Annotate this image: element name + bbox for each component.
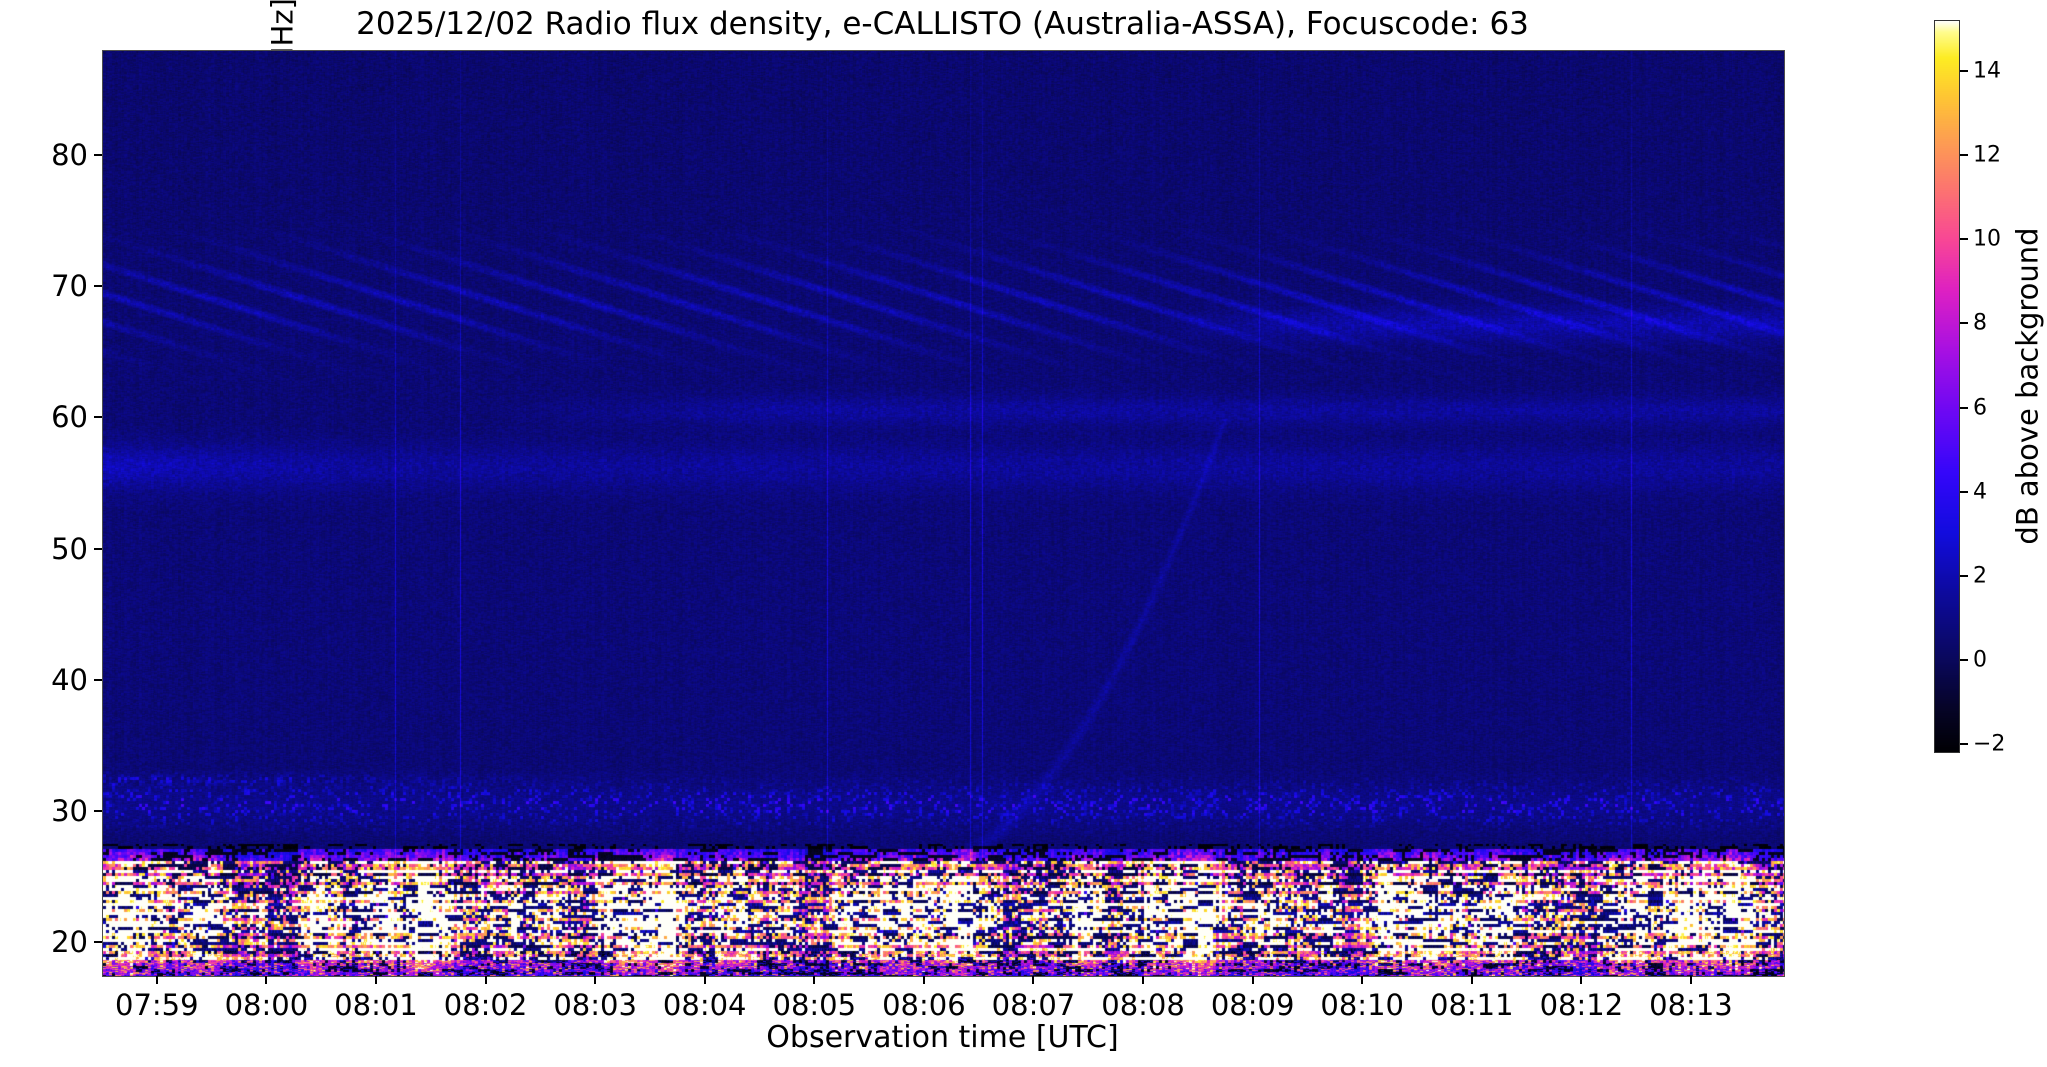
y-tick-mark <box>94 548 102 550</box>
colorbar-tick-label: 10 <box>1973 227 2001 252</box>
x-tick-mark <box>156 976 158 984</box>
x-tick-mark <box>923 976 925 984</box>
x-tick-mark <box>704 976 706 984</box>
y-tick-label: 20 <box>51 925 88 959</box>
y-tick-mark <box>94 154 102 156</box>
colorbar-tick-label: 2 <box>1973 563 1987 588</box>
colorbar-gradient <box>1934 20 1960 753</box>
y-tick-label: 70 <box>51 269 88 303</box>
colorbar-tick-mark <box>1960 238 1968 240</box>
colorbar-tick-mark <box>1960 659 1968 661</box>
y-tick-label: 40 <box>51 663 88 697</box>
x-tick-mark <box>1032 976 1034 984</box>
colorbar-tick-mark <box>1960 743 1968 745</box>
x-tick-label: 08:03 <box>553 988 637 1022</box>
colorbar-tick-label: 12 <box>1973 143 2001 168</box>
colorbar-tick-mark <box>1960 154 1968 156</box>
spectrogram-figure: 2025/12/02 Radio flux density, e-CALLIST… <box>0 0 2047 1067</box>
y-tick-label: 60 <box>51 400 88 434</box>
x-tick-label: 08:01 <box>334 988 418 1022</box>
x-tick-mark <box>1252 976 1254 984</box>
y-axis: 80706050403020 <box>0 50 102 975</box>
x-tick-mark <box>1580 976 1582 984</box>
x-tick-label: 08:11 <box>1430 988 1514 1022</box>
y-tick-mark <box>94 810 102 812</box>
colorbar-tick-mark <box>1960 407 1968 409</box>
colorbar-tick-label: 0 <box>1973 647 1987 672</box>
y-tick-mark <box>94 679 102 681</box>
x-tick-mark <box>1690 976 1692 984</box>
x-tick-label: 08:07 <box>992 988 1076 1022</box>
x-tick-label: 08:06 <box>882 988 966 1022</box>
colorbar-label-container: dB above background <box>2006 20 2047 753</box>
x-tick-label: 08:02 <box>444 988 528 1022</box>
x-tick-label: 08:09 <box>1211 988 1295 1022</box>
y-tick-label: 30 <box>51 794 88 828</box>
x-tick-mark <box>265 976 267 984</box>
y-tick-mark <box>94 285 102 287</box>
colorbar-tick-label: 6 <box>1973 395 1987 420</box>
colorbar-tick-label: −2 <box>1973 731 2005 756</box>
colorbar-canvas <box>1935 21 1959 752</box>
x-tick-label: 08:13 <box>1649 988 1733 1022</box>
x-axis-label: Observation time [UTC] <box>102 1018 1783 1058</box>
x-tick-label: 08:08 <box>1101 988 1185 1022</box>
x-tick-label: 08:04 <box>663 988 747 1022</box>
colorbar-tick-mark <box>1960 322 1968 324</box>
x-tick-label: 08:12 <box>1540 988 1624 1022</box>
spectrogram-plot-area[interactable] <box>102 50 1785 977</box>
x-tick-mark <box>813 976 815 984</box>
colorbar-tick-label: 14 <box>1973 59 2001 84</box>
colorbar-label: dB above background <box>2008 20 2047 753</box>
y-tick-label: 50 <box>51 532 88 566</box>
x-tick-mark <box>1361 976 1363 984</box>
x-tick-label: 08:05 <box>772 988 856 1022</box>
x-tick-mark <box>485 976 487 984</box>
y-tick-mark <box>94 941 102 943</box>
x-tick-label: 07:59 <box>115 988 199 1022</box>
y-tick-label: 80 <box>51 138 88 172</box>
spectrogram-image <box>103 51 1784 976</box>
x-tick-mark <box>1471 976 1473 984</box>
colorbar-tick-mark <box>1960 575 1968 577</box>
x-tick-mark <box>1142 976 1144 984</box>
x-tick-label: 08:00 <box>225 988 309 1022</box>
x-tick-mark <box>375 976 377 984</box>
colorbar-tick-mark <box>1960 70 1968 72</box>
colorbar-tick-mark <box>1960 491 1968 493</box>
y-tick-mark <box>94 416 102 418</box>
colorbar-tick-label: 4 <box>1973 479 1987 504</box>
colorbar-tick-label: 8 <box>1973 311 1987 336</box>
x-tick-mark <box>594 976 596 984</box>
x-tick-label: 08:10 <box>1320 988 1404 1022</box>
colorbar[interactable]: dB above background 14121086420−2 <box>1934 20 2047 755</box>
page-title: 2025/12/02 Radio flux density, e-CALLIST… <box>102 4 1783 44</box>
